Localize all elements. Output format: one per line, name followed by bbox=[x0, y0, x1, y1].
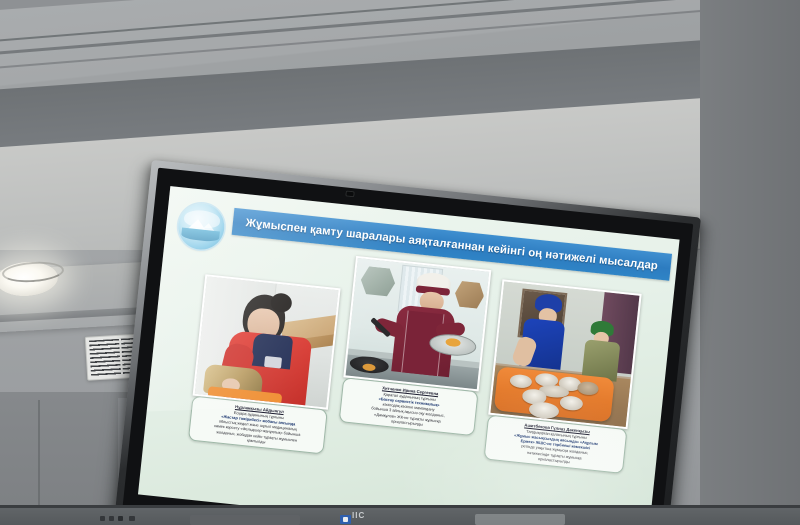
console-brand-label: IIC bbox=[352, 511, 365, 520]
room-scene: Жұмыспен қамту шаралары аяқталғаннан кей… bbox=[0, 0, 800, 525]
photo-card-1 bbox=[193, 274, 341, 410]
console-panel-left bbox=[190, 515, 300, 525]
right-wall bbox=[700, 0, 800, 525]
photo-card-2 bbox=[343, 256, 491, 392]
console-button-4[interactable] bbox=[129, 516, 135, 521]
example-card-2: Хитченко Ирина Сергеевна Қаратал ауданын… bbox=[339, 256, 492, 437]
console-control-buttons[interactable] bbox=[100, 516, 144, 521]
console-panel-right bbox=[475, 514, 565, 525]
presentation-slide: Жұмыспен қамту шаралары аяқталғаннан кей… bbox=[138, 186, 680, 525]
av-console bbox=[0, 505, 800, 525]
display-screen[interactable]: Жұмыспен қамту шаралары аяқталғаннан кей… bbox=[138, 186, 680, 525]
example-card-1: Нұрланқызы Айдынгүл Есқара ауданының тұр… bbox=[188, 274, 341, 455]
power-indicator-icon bbox=[340, 515, 351, 524]
p1-jacket-logo bbox=[264, 356, 282, 368]
cards-container: Нұрланқызы Айдынгүл Есқара ауданының тұр… bbox=[149, 237, 666, 525]
console-top-edge bbox=[0, 505, 800, 508]
webcam-icon bbox=[345, 190, 355, 197]
console-button-2[interactable] bbox=[109, 516, 114, 521]
wall-mounted-display[interactable]: Жұмыспен қамту шаралары аяқталғаннан кей… bbox=[114, 160, 701, 525]
example-card-3: Ашитбекова Гүлназ Дәкенқызы Талдықорған … bbox=[484, 279, 642, 474]
console-button-3[interactable] bbox=[118, 516, 123, 521]
photo-card-3 bbox=[488, 279, 641, 429]
console-button-1[interactable] bbox=[100, 516, 105, 521]
